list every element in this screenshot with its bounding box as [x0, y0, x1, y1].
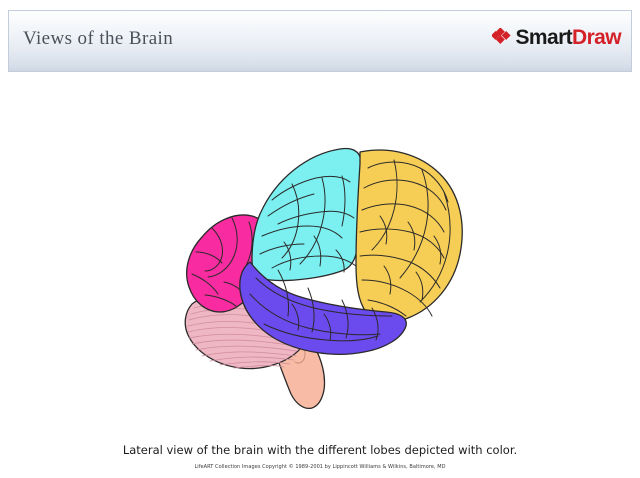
brand-word-smart: Smart	[516, 26, 573, 49]
brand-logo[interactable]: SmartDraw	[492, 27, 621, 48]
frontal-lobe-shape	[356, 150, 462, 322]
figure-caption: Lateral view of the brain with the diffe…	[0, 443, 640, 457]
page-title: Views of the Brain	[23, 28, 173, 50]
header-bar: Views of the Brain SmartDraw	[8, 10, 632, 72]
smartdraw-diamonds-icon	[492, 28, 512, 48]
brain-illustration	[172, 132, 472, 412]
brand-wordmark: SmartDraw	[516, 27, 621, 48]
copyright-notice: LifeART Collection Images Copyright © 19…	[0, 464, 640, 470]
brand-word-draw: Draw	[572, 26, 621, 49]
